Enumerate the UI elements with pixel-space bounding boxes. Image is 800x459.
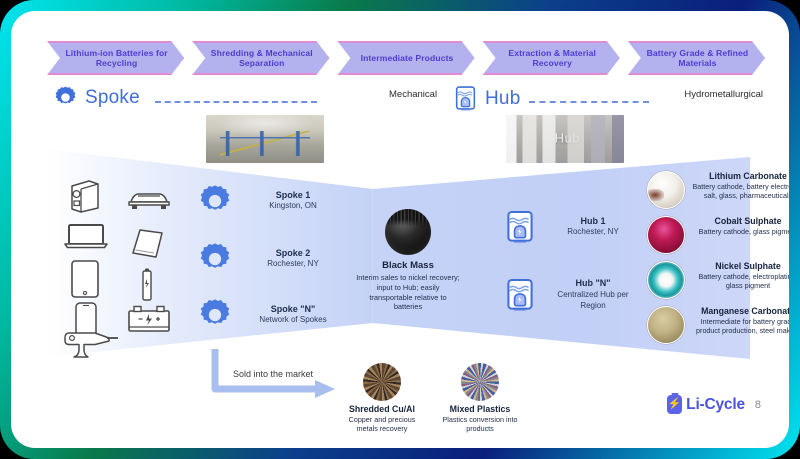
gear-icon [197,241,233,277]
stage-chevron-1[interactable]: Lithium-ion Batteries for Recycling [47,41,184,75]
byproduct-item: Mixed Plastics Plastics conversion into … [439,363,521,434]
stage-chevron-2[interactable]: Shredding & Mechanical Separation [192,41,329,75]
li-cycle-wordmark: Li-Cycle [686,396,745,414]
gear-icon [197,297,233,333]
car-battery-icon [125,303,173,335]
product-item: Nickel Sulphate Battery cathode, electro… [647,261,789,299]
nickel-sulphate-sample-icon [647,261,685,299]
product-title: Lithium Carbonate [692,171,789,182]
product-item: Cobalt Sulphate Battery cathode, glass p… [647,216,789,254]
slide-canvas: Lithium-ion Batteries for Recycling Shre… [11,11,789,448]
hub-facility-photo: Hub [506,115,624,163]
spoke-node-sub: Kingston, ON [245,201,341,212]
byproduct-desc: Copper and precious metals recovery [341,415,423,434]
spoke-node-title: Spoke "N" [245,304,341,316]
mixed-plastics-sample-icon [461,363,499,401]
hub-node-sub: Centralized Hub per Region [547,290,639,312]
byproduct-title: Shredded Cu/Al [341,404,423,415]
product-item: Lithium Carbonate Battery cathode, batte… [647,171,789,209]
power-drill-icon [63,327,121,359]
black-mass-block: Black Mass Interim sales to nickel recov… [356,209,460,312]
spoke-facility-photo [206,115,324,163]
hydrometallurgical-dashed-line [529,101,649,103]
spoke-node-title: Spoke 2 [245,248,341,260]
black-mass-desc: Interim sales to nickel recovery; input … [356,273,460,312]
mechanical-dashed-line [155,101,317,103]
spoke-brand-label: Spoke [85,87,140,109]
aa-battery-icon [139,267,155,303]
hub-node-sub: Rochester, NY [547,227,639,238]
product-title: Manganese Carbonate [692,306,789,317]
spoke-node-sub: Rochester, NY [245,259,341,270]
hub-tank-icon [505,209,535,245]
cobalt-sulphate-sample-icon [647,216,685,254]
spoke-node-1: Spoke 1 Kingston, ON [197,183,341,219]
product-desc: Battery cathode, battery electrolyte sal… [692,182,789,201]
product-title: Nickel Sulphate [692,261,789,272]
hub-brand: Hub [453,85,520,112]
stage-chevron-5[interactable]: Battery Grade & Refined Materials [628,41,765,75]
shredded-cu-al-sample-icon [363,363,401,401]
hub-tank-icon [505,277,535,313]
li-cycle-logo: Li-Cycle [667,395,745,414]
spoke-hub-band: Spoke Mechanical Hub Hydrometallurgical [47,85,767,115]
product-title: Cobalt Sulphate [692,216,789,227]
slide-footer: Li-Cycle 8 [667,395,761,414]
product-item: Manganese Carbonate Intermediate for bat… [647,306,789,344]
byproduct-desc: Plastics conversion into products [439,415,521,434]
stage-chevron-3[interactable]: Intermediate Products [337,41,474,75]
hub-node-title: Hub 1 [547,216,639,228]
mechanical-label: Mechanical [389,89,437,100]
electric-car-icon [125,187,173,211]
gear-icon [53,85,78,110]
battery-input-icons [63,179,193,351]
stage-chevron-row: Lithium-ion Batteries for Recycling Shre… [47,41,765,75]
product-desc: Intermediate for battery grade product p… [692,317,789,336]
sold-into-market-label: Sold into the market [233,369,313,379]
stage-chevron-4[interactable]: Extraction & Material Recovery [483,41,620,75]
battery-bolt-icon [667,395,682,414]
byproduct-title: Mixed Plastics [439,404,521,415]
page-number: 8 [755,399,761,411]
spoke-brand: Spoke [53,85,140,110]
manganese-carbonate-sample-icon [647,306,685,344]
desktop-pc-icon [67,179,103,213]
hub-node-2: Hub "N" Centralized Hub per Region [505,277,639,313]
hub-brand-label: Hub [485,88,520,110]
gear-icon [197,183,233,219]
hub-node-1: Hub 1 Rochester, NY [505,209,639,245]
product-desc: Battery cathode, glass pigment [692,227,789,236]
hub-photo-watermark: Hub [555,131,580,146]
hub-node-title: Hub "N" [547,278,639,290]
byproduct-item: Shredded Cu/Al Copper and precious metal… [341,363,423,434]
neon-frame: Lithium-ion Batteries for Recycling Shre… [0,0,800,459]
laptop-icon [63,223,109,249]
black-mass-sample-icon [385,209,431,255]
lithium-carbonate-sample-icon [647,171,685,209]
battery-pouch-cell-icon [129,227,167,261]
byproducts-row: Shredded Cu/Al Copper and precious metal… [341,363,521,434]
refined-products-list: Lithium Carbonate Battery cathode, batte… [647,171,789,351]
product-desc: Battery cathode, electroplating, glass p… [692,272,789,291]
spoke-node-title: Spoke 1 [245,190,341,202]
black-mass-title: Black Mass [356,260,460,271]
hydrometallurgical-label: Hydrometallurgical [684,89,763,100]
spoke-node-2: Spoke 2 Rochester, NY [197,241,341,277]
spoke-node-3: Spoke "N" Network of Spokes [197,297,341,333]
tablet-icon [69,259,101,299]
hub-tank-icon [453,85,478,112]
spoke-node-sub: Network of Spokes [245,315,341,326]
